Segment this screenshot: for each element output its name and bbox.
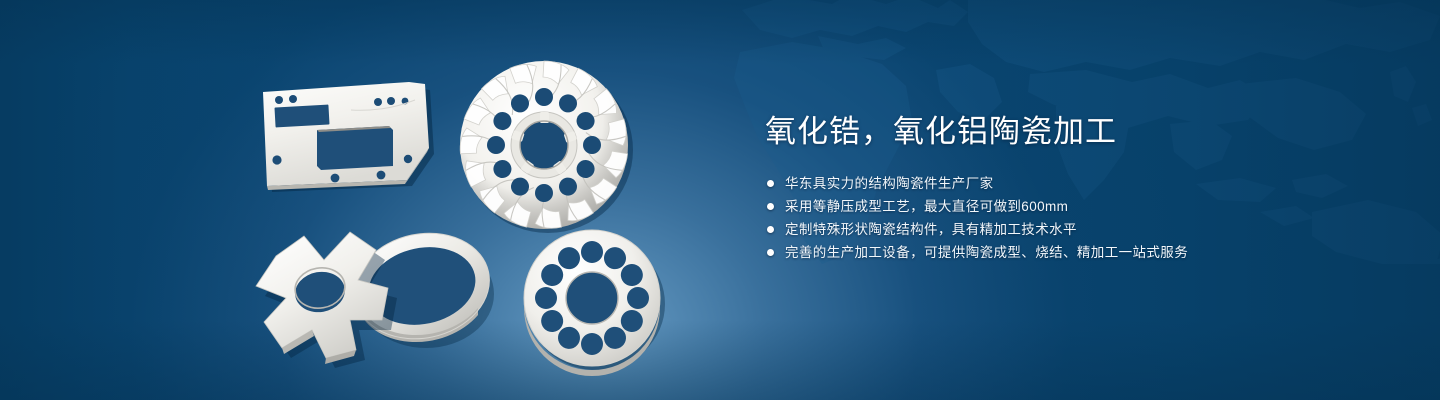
ceramic-impeller-disc: [450, 50, 640, 240]
bullet-text: 采用等静压成型工艺，最大直径可做到600mm: [785, 195, 1068, 218]
list-item: 采用等静压成型工艺，最大直径可做到600mm: [767, 195, 1188, 218]
bullet-dot-icon: [767, 180, 774, 187]
bullet-text: 定制特殊形状陶瓷结构件，具有精加工技术水平: [785, 218, 1077, 241]
bullet-dot-icon: [767, 249, 774, 256]
bullet-text: 华东具实力的结构陶瓷件生产厂家: [785, 172, 994, 195]
ceramic-hole-flange: [516, 226, 676, 376]
bullet-text: 完善的生产加工设备，可提供陶瓷成型、烧结、精加工一站式服务: [785, 241, 1188, 264]
list-item: 华东具实力的结构陶瓷件生产厂家: [767, 172, 1188, 195]
ceramic-cross-piece: [250, 228, 420, 368]
banner-copy: 氧化锆，氧化铝陶瓷加工 华东具实力的结构陶瓷件生产厂家 采用等静压成型工艺，最大…: [765, 0, 1405, 400]
product-photo-cluster: [0, 0, 740, 400]
list-item: 定制特殊形状陶瓷结构件，具有精加工技术水平: [767, 218, 1188, 241]
banner-headline: 氧化锆，氧化铝陶瓷加工: [765, 112, 1117, 152]
list-item: 完善的生产加工设备，可提供陶瓷成型、烧结、精加工一站式服务: [767, 241, 1188, 264]
hero-banner: 氧化锆，氧化铝陶瓷加工 华东具实力的结构陶瓷件生产厂家 采用等静压成型工艺，最大…: [0, 0, 1440, 400]
bullet-dot-icon: [767, 226, 774, 233]
bullet-dot-icon: [767, 203, 774, 210]
ceramic-machined-plate: [255, 78, 445, 198]
feature-bullet-list: 华东具实力的结构陶瓷件生产厂家 采用等静压成型工艺，最大直径可做到600mm 定…: [767, 172, 1188, 264]
